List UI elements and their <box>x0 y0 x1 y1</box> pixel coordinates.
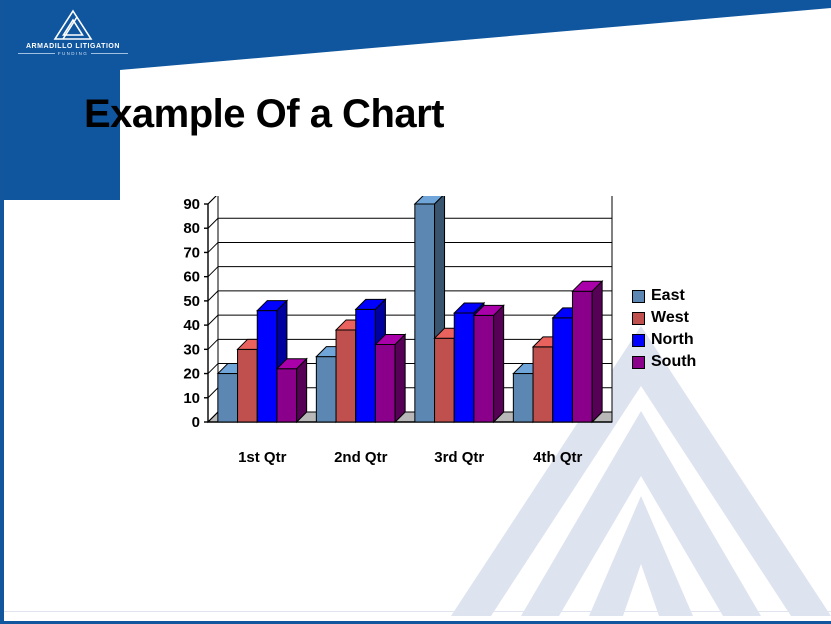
chart-legend: EastWestNorthSouth <box>632 288 696 376</box>
bar-front <box>257 311 277 422</box>
bottom-hairline <box>0 611 831 612</box>
y-tick-label: 80 <box>183 220 200 237</box>
logo-wordmark: ARMADILLO LITIGATION <box>18 43 128 50</box>
bar-front <box>336 330 356 422</box>
legend-swatch <box>632 334 645 347</box>
bar-front <box>474 315 494 422</box>
bar-front <box>238 349 258 422</box>
logo-subtitle-row: FUNDING <box>18 51 128 56</box>
bar-side <box>297 359 307 422</box>
triangle-logo-icon <box>51 8 95 42</box>
bar-front <box>533 347 553 422</box>
legend-swatch <box>632 312 645 325</box>
bar-front <box>415 204 435 422</box>
bar-front <box>513 374 533 422</box>
x-tick-label: 4th Qtr <box>508 449 608 466</box>
bar-side <box>395 334 405 422</box>
bar-front <box>572 291 592 422</box>
brand-logo: ARMADILLO LITIGATION FUNDING <box>18 8 128 66</box>
x-tick-label: 3rd Qtr <box>409 449 509 466</box>
bar-front <box>454 313 474 422</box>
plot-side-wall <box>208 196 218 422</box>
y-tick-label: 0 <box>192 414 200 431</box>
y-tick-label: 60 <box>183 269 200 286</box>
bar-side <box>494 305 504 422</box>
bar-front <box>435 338 455 422</box>
legend-label: South <box>651 354 696 370</box>
legend-swatch <box>632 356 645 369</box>
left-accent-strip <box>0 0 4 624</box>
legend-label: West <box>651 310 689 326</box>
y-tick-label: 90 <box>183 196 200 213</box>
y-tick-label: 40 <box>183 317 200 334</box>
page-title: Example Of a Chart <box>84 92 444 137</box>
legend-item: East <box>632 288 696 304</box>
logo-subtitle: FUNDING <box>58 51 88 56</box>
slide-canvas: ARMADILLO LITIGATION FUNDING Example Of … <box>0 0 831 624</box>
legend-swatch <box>632 290 645 303</box>
y-tick-label: 20 <box>183 366 200 383</box>
bar-chart: 0102030405060708090 <box>168 196 618 451</box>
y-tick-label: 50 <box>183 293 200 310</box>
x-tick-label: 1st Qtr <box>212 449 312 466</box>
legend-item: North <box>632 332 696 348</box>
bar-front <box>356 309 376 422</box>
logo-rule-left <box>18 53 55 54</box>
y-tick-label: 70 <box>183 244 200 261</box>
bar-front <box>218 374 238 422</box>
bar-side <box>592 281 602 422</box>
logo-rule-right <box>91 53 128 54</box>
bar-front <box>375 344 395 422</box>
bar-front <box>277 369 297 422</box>
legend-item: West <box>632 310 696 326</box>
legend-label: East <box>651 288 685 304</box>
bar-front <box>316 357 336 422</box>
legend-item: South <box>632 354 696 370</box>
bar-front <box>553 318 573 422</box>
y-tick-label: 10 <box>183 390 200 407</box>
legend-label: North <box>651 332 694 348</box>
x-tick-label: 2nd Qtr <box>311 449 411 466</box>
y-tick-label: 30 <box>183 341 200 358</box>
